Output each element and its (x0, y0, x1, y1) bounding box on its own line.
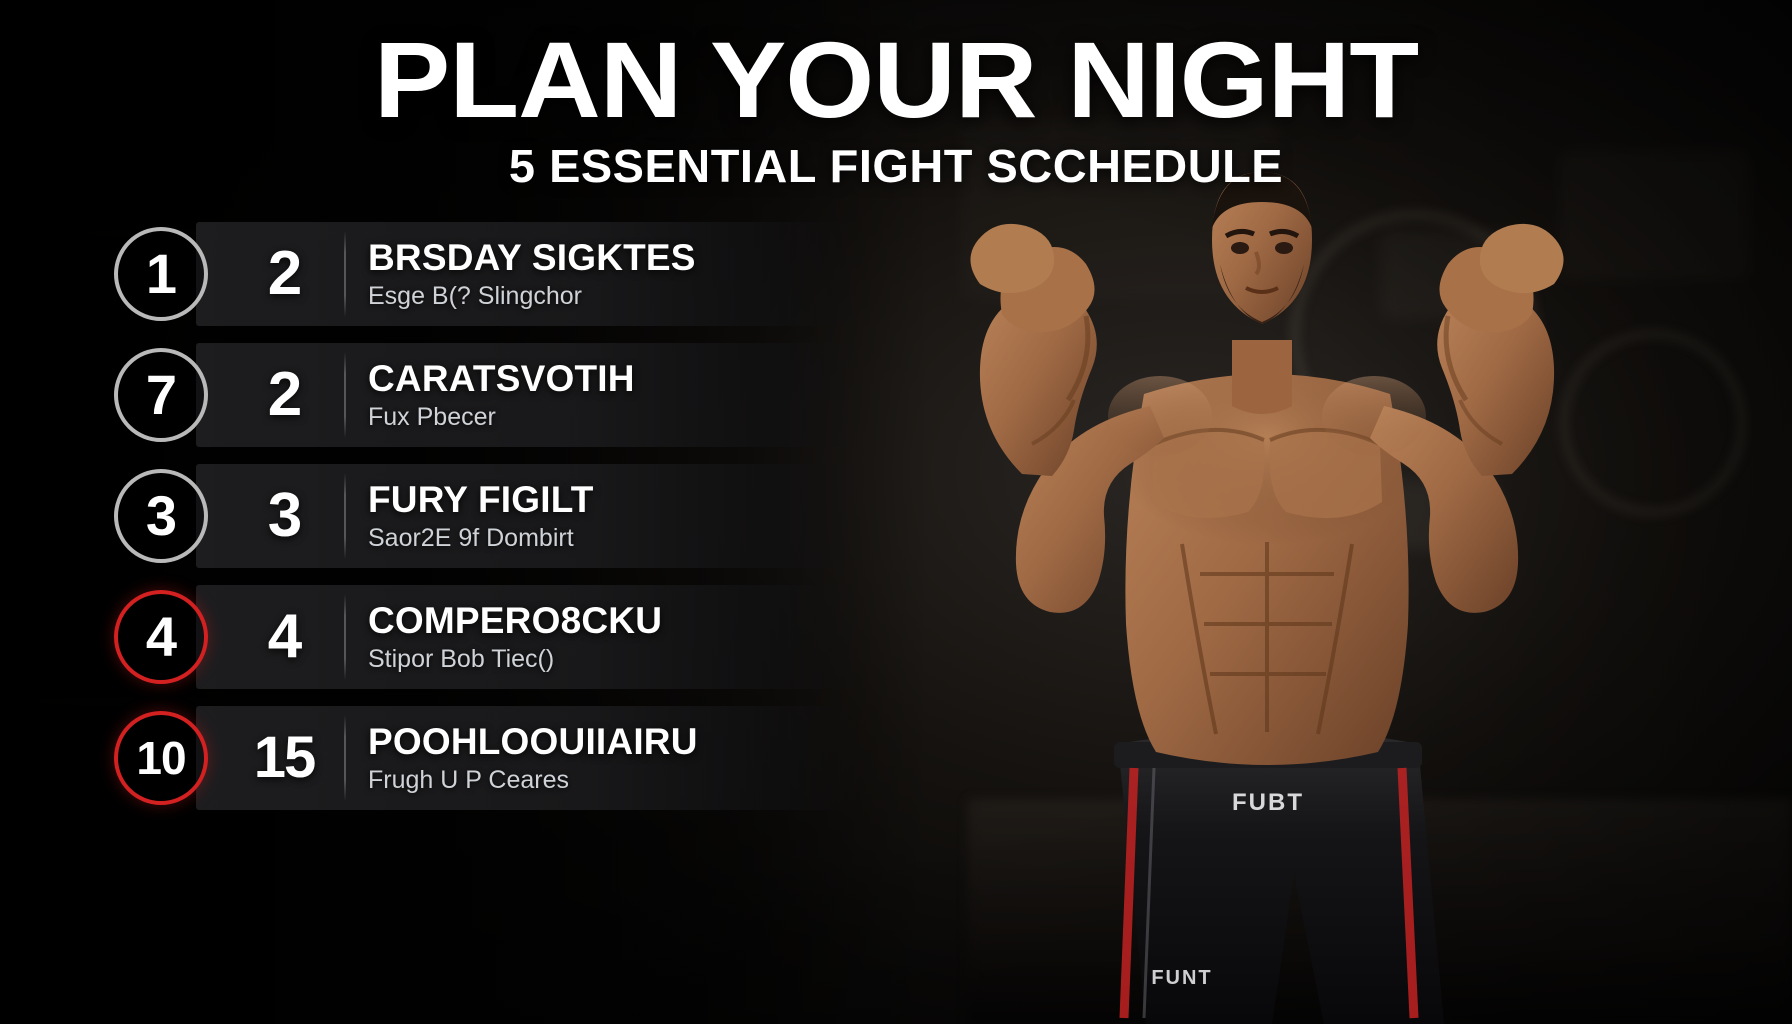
page-title: PLAN YOUR NIGHT (0, 28, 1792, 132)
list-item-badge: 10 (114, 711, 208, 805)
list-item-subtitle: Saor2E 9f Dombirt (368, 523, 594, 553)
list-item[interactable]: 1 2 BRSDAY SIGKTES Esge B(? Slingchor (100, 222, 860, 326)
list-item-subtitle: Fux Pbecer (368, 402, 635, 432)
page-subtitle: 5 ESSENTIAL FIGHT SCCHEDULE (0, 142, 1792, 190)
list-item-subtitle: Frugh U P Ceares (368, 765, 698, 795)
list-item[interactable]: 4 4 COMPERO8CKU Stipor Bob Tiec() (100, 585, 860, 689)
list-item-texts: COMPERO8CKU Stipor Bob Tiec() (368, 601, 662, 674)
list-item-title: COMPERO8CKU (368, 601, 662, 641)
list-item-texts: FURY FIGILT Saor2E 9f Dombirt (368, 480, 594, 553)
list-item-badge: 3 (114, 469, 208, 563)
list-item-number: 4 (224, 606, 344, 668)
list-item[interactable]: 3 3 FURY FIGILT Saor2E 9f Dombirt (100, 464, 860, 568)
list-item-number: 15 (224, 727, 344, 789)
list-item-title: POOHLOOUIIAIRU (368, 722, 698, 762)
list-item-subtitle: Stipor Bob Tiec() (368, 644, 662, 674)
list-item[interactable]: 10 15 POOHLOOUIIAIRU Frugh U P Ceares (100, 706, 860, 810)
fighter-photo: FUBT FUNT (882, 144, 1642, 1024)
list-item[interactable]: 7 2 CARATSVOTIH Fux Pbecer (100, 343, 860, 447)
list-item-divider (344, 715, 346, 801)
list-item-number: 2 (224, 243, 344, 305)
list-item-texts: CARATSVOTIH Fux Pbecer (368, 359, 635, 432)
list-item-texts: POOHLOOUIIAIRU Frugh U P Ceares (368, 722, 698, 795)
list-item-divider (344, 231, 346, 317)
list-item-divider (344, 594, 346, 680)
list-item-texts: BRSDAY SIGKTES Esge B(? Slingchor (368, 238, 696, 311)
list-item-subtitle: Esge B(? Slingchor (368, 281, 696, 311)
headline-block: PLAN YOUR NIGHT 5 ESSENTIAL FIGHT SCCHED… (0, 28, 1792, 190)
list-item-title: CARATSVOTIH (368, 359, 635, 399)
list-item-number: 3 (224, 485, 344, 547)
fight-schedule-list: 1 2 BRSDAY SIGKTES Esge B(? Slingchor 7 … (100, 222, 860, 827)
list-item-number: 2 (224, 364, 344, 426)
list-item-badge: 1 (114, 227, 208, 321)
list-item-badge: 4 (114, 590, 208, 684)
list-item-divider (344, 352, 346, 438)
svg-text:FUBT: FUBT (1232, 789, 1304, 816)
list-item-badge: 7 (114, 348, 208, 442)
poster-canvas: FUBT FUNT (0, 0, 1792, 1024)
list-item-title: FURY FIGILT (368, 480, 594, 520)
list-item-divider (344, 473, 346, 559)
svg-text:FUNT: FUNT (1151, 967, 1212, 989)
list-item-title: BRSDAY SIGKTES (368, 238, 696, 278)
